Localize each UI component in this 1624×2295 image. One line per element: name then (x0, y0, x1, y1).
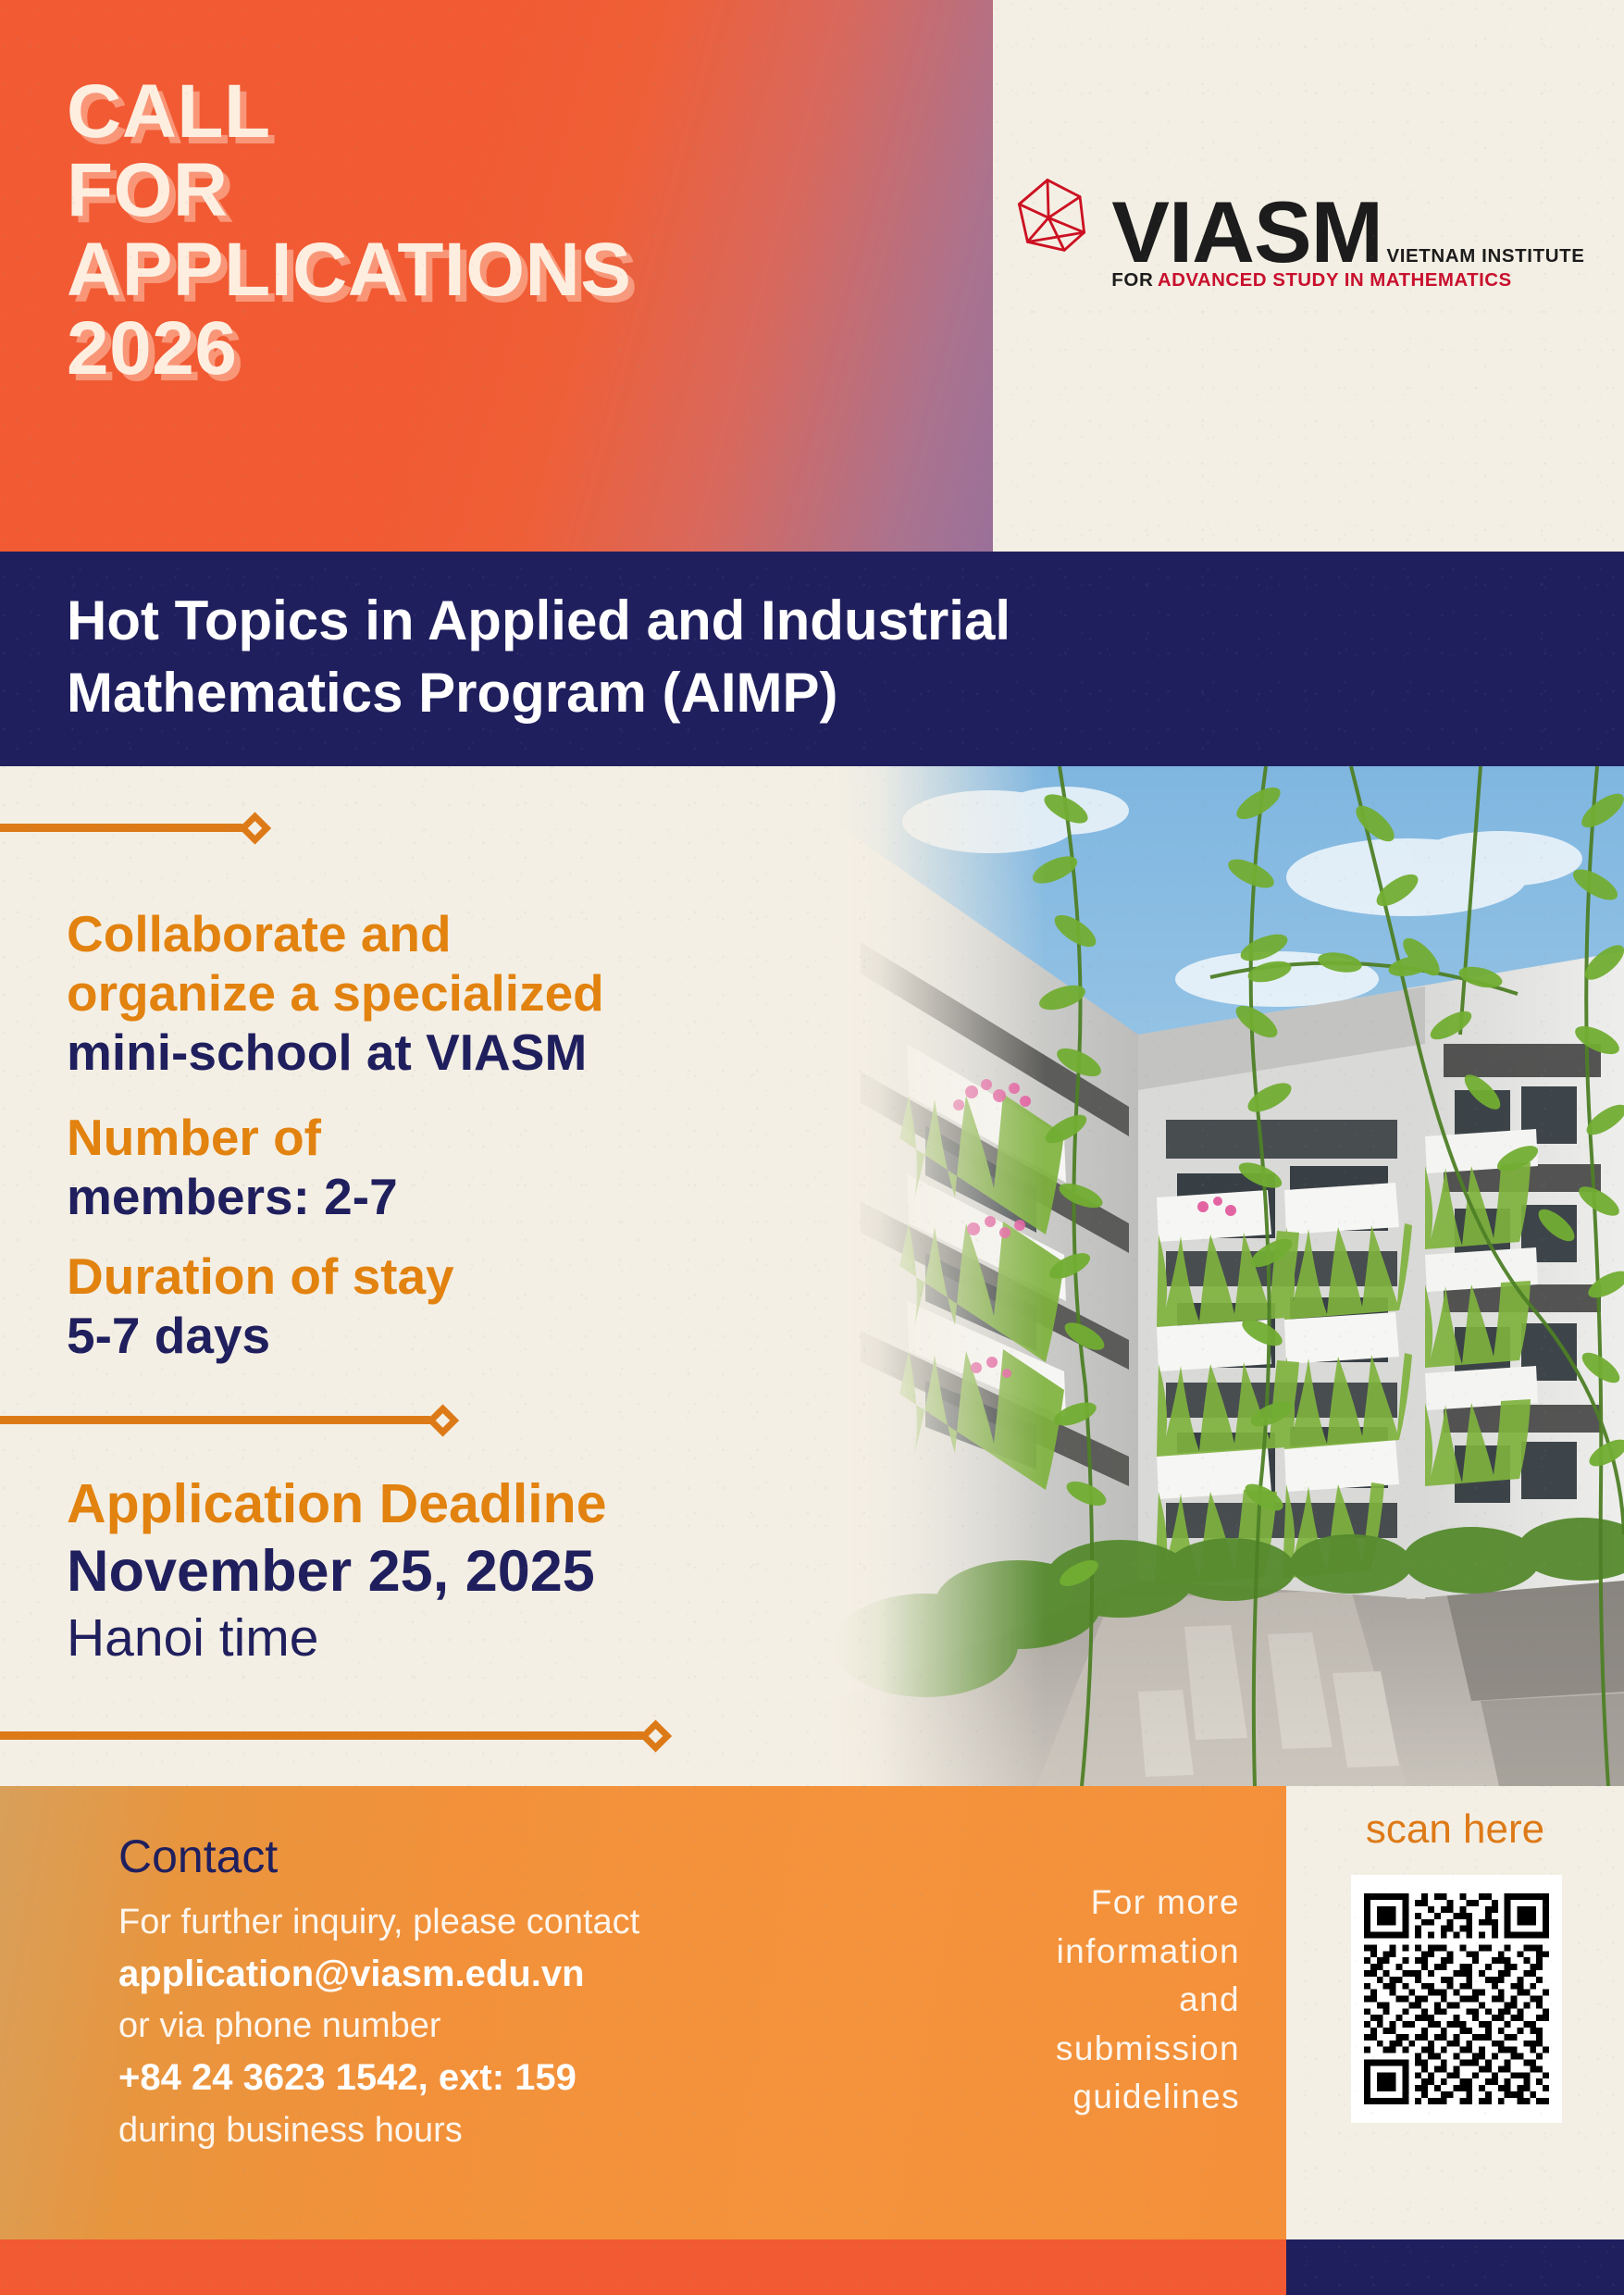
more-info-line-3: and (1179, 1980, 1240, 2018)
collaborate-line-2: organize a specialized (67, 964, 807, 1023)
program-title-line-2: Mathematics Program (AIMP) (67, 657, 1547, 729)
contact-intro: For further inquiry, please contact (118, 1897, 877, 1948)
qr-code[interactable] (1351, 1875, 1562, 2123)
collaborate-line-3: mini-school at VIASM (67, 1023, 807, 1083)
more-info-line-1: For more (1091, 1883, 1240, 1921)
header-band: CALL FOR APPLICATIONS 2026 VIASM VIETNA (0, 0, 1624, 552)
info-block-deadline: Application Deadline November 25, 2025 H… (67, 1471, 844, 1670)
info-block-duration: Duration of stay 5-7 days (67, 1247, 807, 1366)
program-title: Hot Topics in Applied and Industrial Mat… (67, 585, 1547, 729)
divider-line-1 (0, 824, 242, 832)
info-block-collaborate: Collaborate and organize a specialized m… (67, 905, 807, 1082)
info-block-members: Number of members: 2-7 (67, 1109, 807, 1227)
contact-block: Contact For further inquiry, please cont… (118, 1830, 877, 2155)
main-content: Collaborate and organize a specialized m… (0, 766, 1624, 1786)
viasm-wordmark: VIASM (1111, 183, 1382, 280)
deadline-label: Application Deadline (67, 1471, 844, 1537)
deadline-timezone: Hanoi time (67, 1606, 844, 1669)
icosahedron-logo-icon (1016, 176, 1089, 311)
headline-line-2: FOR (67, 151, 955, 229)
members-value: members: 2-7 (67, 1168, 807, 1227)
headline-line-3: APPLICATIONS (67, 230, 955, 309)
headline-line-1: CALL (67, 72, 955, 151)
bottom-bar-left (0, 2239, 1286, 2295)
footer: Contact For further inquiry, please cont… (0, 1786, 1624, 2239)
duration-label: Duration of stay (67, 1247, 807, 1307)
contact-heading: Contact (118, 1830, 877, 1882)
bottom-bar (0, 2239, 1624, 2295)
divider-line-3 (0, 1731, 643, 1740)
qr-zone: scan here (1286, 1786, 1624, 2239)
program-title-line-1: Hot Topics in Applied and Industrial (67, 585, 1547, 657)
more-info-line-5: guidelines (1072, 2078, 1240, 2115)
contact-hours: during business hours (118, 2105, 877, 2156)
headline-line-4: 2026 (67, 309, 955, 388)
deadline-date: November 25, 2025 (67, 1537, 844, 1607)
poster: CALL FOR APPLICATIONS 2026 VIASM VIETNA (0, 0, 1624, 2295)
members-label: Number of (67, 1109, 807, 1168)
viasm-logo: VIASM VIETNAM INSTITUTE FOR ADVANCED STU… (1016, 176, 1624, 311)
bottom-bar-right (1286, 2239, 1624, 2295)
photo-left-fade (833, 766, 1046, 1786)
contact-phone[interactable]: +84 24 3623 1542, ext: 159 (118, 2052, 877, 2105)
more-info-line-2: information (1057, 1932, 1240, 1970)
divider-line-2 (0, 1416, 430, 1424)
program-title-bar: Hot Topics in Applied and Industrial Mat… (0, 552, 1624, 766)
more-info-text: For more information and submission guid… (944, 1879, 1240, 2122)
more-info-line-4: submission (1056, 2029, 1240, 2067)
viasm-subtitle-2: ADVANCED STUDY IN MATHEMATICS (1158, 269, 1512, 291)
contact-email[interactable]: application@viasm.edu.vn (118, 1948, 877, 2002)
duration-value: 5-7 days (67, 1307, 807, 1366)
contact-phone-intro: or via phone number (118, 2001, 877, 2052)
collaborate-line-1: Collaborate and (67, 905, 807, 964)
building-photo (833, 766, 1624, 1786)
viasm-logo-text: VIASM VIETNAM INSTITUTE FOR ADVANCED STU… (1111, 195, 1624, 292)
page-title: CALL FOR APPLICATIONS 2026 (67, 72, 955, 388)
scan-here-label: scan here (1286, 1806, 1624, 1853)
